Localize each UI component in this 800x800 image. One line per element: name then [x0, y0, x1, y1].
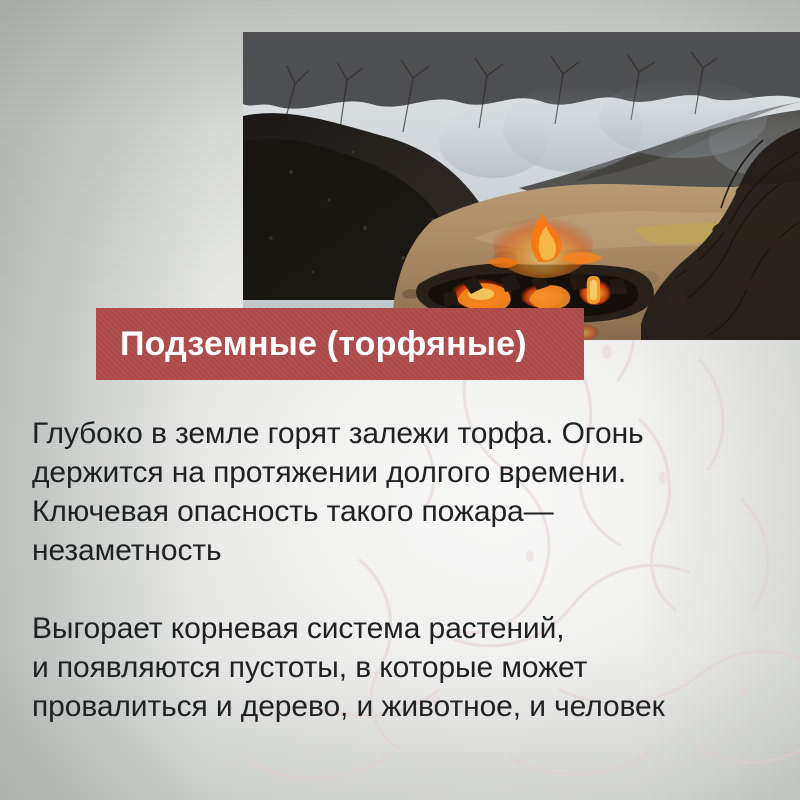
peat-fire-illustration — [243, 32, 800, 340]
section-title: Подземные (торфяные) — [120, 325, 527, 364]
peat-fire-photo — [243, 32, 800, 340]
body-copy: Глубоко в земле горят залежи торфа. Огон… — [32, 414, 762, 726]
paragraph-2: Выгорает корневая система растений, и по… — [32, 609, 762, 726]
slide-canvas: Подземные (торфяные) Глубоко в земле гор… — [0, 0, 800, 800]
paragraph-1: Глубоко в земле горят залежи торфа. Огон… — [32, 414, 762, 570]
section-title-banner: Подземные (торфяные) — [96, 308, 584, 380]
